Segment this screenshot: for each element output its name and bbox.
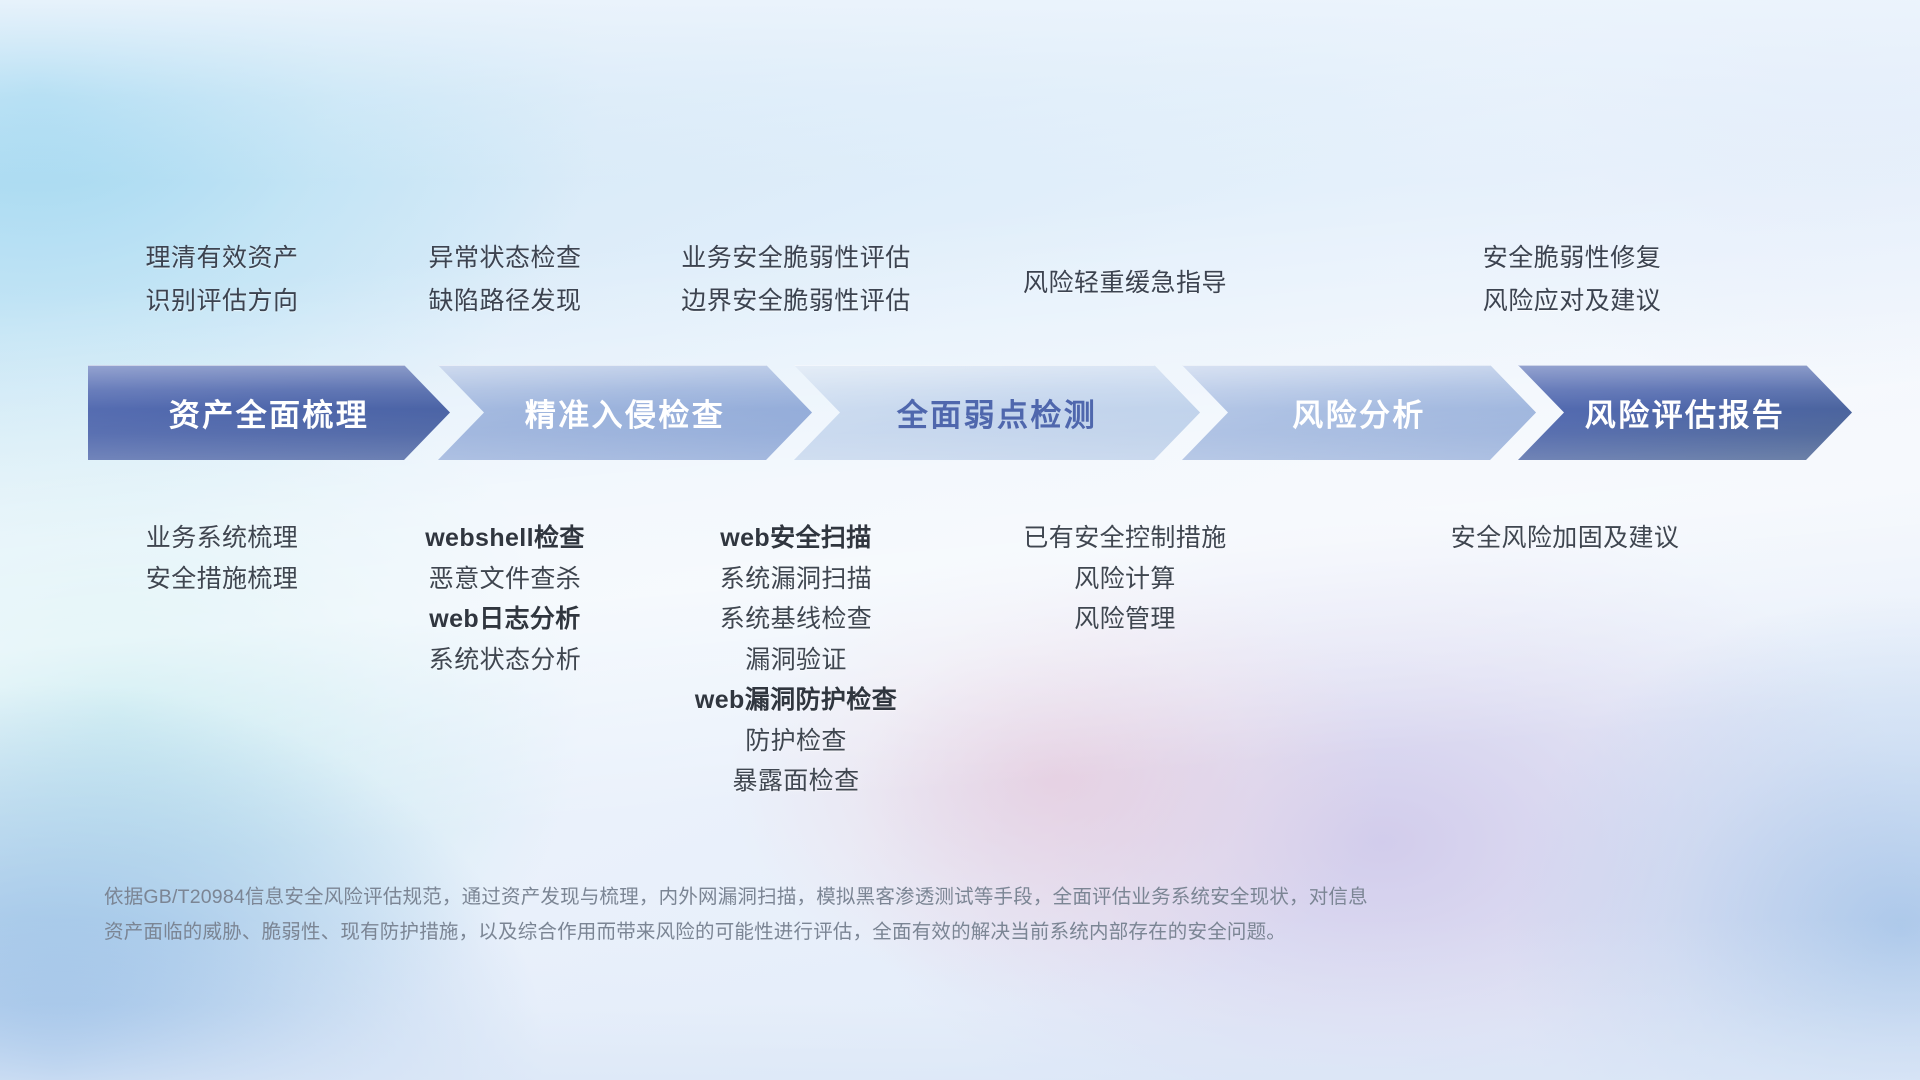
stage-detail-item: 系统状态分析: [360, 640, 650, 681]
top-label-column-1: 理清有效资产 识别评估方向: [82, 237, 362, 323]
footer-line-2: 资产面临的威胁、脆弱性、现有防护措施，以及综合作用而带来风险的可能性进行评估，全…: [104, 915, 1634, 950]
process-stage-4[interactable]: 风险分析: [1182, 365, 1536, 460]
stage-detail-item: 恶意文件查杀: [360, 559, 650, 600]
stage-detail-column-1: 业务系统梳理 安全措施梳理: [82, 518, 362, 599]
stage-detail-item: 风险计算: [1000, 559, 1250, 600]
process-stage-2[interactable]: 精准入侵检查: [438, 365, 812, 460]
top-label-text: 风险应对及建议: [1432, 280, 1712, 323]
slide-canvas: 理清有效资产 识别评估方向 异常状态检查 缺陷路径发现 业务安全脆弱性评估 边界…: [0, 0, 1920, 1080]
process-stage-label: 风险分析: [1292, 390, 1426, 435]
stage-detail-item: 业务系统梳理: [82, 518, 362, 559]
top-label-text: 缺陷路径发现: [360, 280, 650, 323]
stage-detail-item: 风险管理: [1000, 599, 1250, 640]
stage-detail-item: 系统基线检查: [640, 599, 952, 640]
footer-line-1: 依据GB/T20984信息安全风险评估规范，通过资产发现与梳理，内外网漏洞扫描，…: [104, 880, 1634, 915]
top-label-text: 异常状态检查: [360, 237, 650, 280]
process-stage-label: 风险评估报告: [1585, 390, 1785, 435]
stage-detail-column-3: web安全扫描 系统漏洞扫描 系统基线检查 漏洞验证 web漏洞防护检查 防护检…: [640, 518, 952, 802]
top-label-text: 边界安全脆弱性评估: [640, 280, 952, 323]
stage-detail-item: web安全扫描: [640, 518, 952, 559]
top-label-column-4: 风险轻重缓急指导: [1000, 262, 1250, 305]
stage-detail-item: web日志分析: [360, 599, 650, 640]
top-label-column-2: 异常状态检查 缺陷路径发现: [360, 237, 650, 323]
stage-detail-item: web漏洞防护检查: [640, 680, 952, 721]
process-stage-label: 资产全面梳理: [169, 390, 369, 435]
process-stage-label: 精准入侵检查: [525, 390, 725, 435]
top-label-column-5: 安全脆弱性修复 风险应对及建议: [1432, 237, 1712, 323]
top-label-text: 安全脆弱性修复: [1432, 237, 1712, 280]
process-stage-5[interactable]: 风险评估报告: [1518, 365, 1852, 460]
stage-detail-item: webshell检查: [360, 518, 650, 559]
process-stage-1[interactable]: 资产全面梳理: [88, 365, 450, 460]
top-label-text: 业务安全脆弱性评估: [640, 237, 952, 280]
stage-detail-item: 漏洞验证: [640, 640, 952, 681]
footer-description: 依据GB/T20984信息安全风险评估规范，通过资产发现与梳理，内外网漏洞扫描，…: [104, 880, 1634, 949]
stage-detail-item: 防护检查: [640, 721, 952, 762]
stage-detail-item: 安全风险加固及建议: [1415, 518, 1715, 559]
stage-detail-item: 已有安全控制措施: [1000, 518, 1250, 559]
process-arrow-band: 资产全面梳理 精准入侵检查 全面弱点检测 风险分析: [88, 365, 1848, 460]
top-label-column-3: 业务安全脆弱性评估 边界安全脆弱性评估: [640, 237, 952, 323]
stage-detail-item: 系统漏洞扫描: [640, 559, 952, 600]
process-stage-3[interactable]: 全面弱点检测: [794, 365, 1200, 460]
stage-detail-column-2: webshell检查 恶意文件查杀 web日志分析 系统状态分析: [360, 518, 650, 680]
top-label-text: 识别评估方向: [82, 280, 362, 323]
stage-detail-column-4: 已有安全控制措施 风险计算 风险管理: [1000, 518, 1250, 640]
stage-detail-column-5: 安全风险加固及建议: [1415, 518, 1715, 559]
stage-detail-item: 安全措施梳理: [82, 559, 362, 600]
process-stage-label: 全面弱点检测: [897, 390, 1097, 435]
stage-detail-item: 暴露面检查: [640, 761, 952, 802]
top-label-text: 风险轻重缓急指导: [1000, 262, 1250, 305]
top-label-text: 理清有效资产: [82, 237, 362, 280]
